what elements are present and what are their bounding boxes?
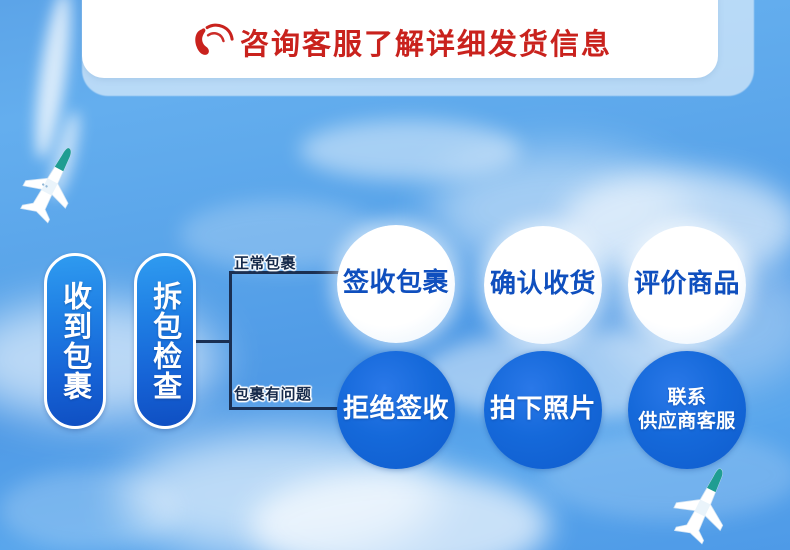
- flow-node-label: 评价商品: [634, 271, 740, 298]
- flow-node-label-line2: 供应商客服: [638, 410, 736, 432]
- flow-node-label: 收到包裹: [59, 281, 90, 401]
- flow-node-label: 拆包检查: [149, 281, 180, 401]
- branch-label-normal: 正常包裹: [234, 252, 296, 273]
- cloud-shape: [0, 470, 180, 550]
- flow-node-received-package[interactable]: 收到包裹: [44, 253, 106, 429]
- flow-node-review-product[interactable]: 评价商品: [628, 226, 746, 344]
- connector-line-stub: [196, 340, 232, 343]
- flow-node-label-line1: 联系: [667, 386, 706, 408]
- flow-node-confirm-receipt[interactable]: 确认收货: [484, 226, 602, 344]
- contrail-shape: [44, 109, 85, 201]
- header-panel: 咨询客服了解详细发货信息: [82, 0, 718, 78]
- flow-node-label: 签收包裹: [343, 270, 449, 297]
- cloud-shape: [300, 120, 520, 180]
- airplane-icon: [0, 121, 115, 251]
- flow-node-refuse-signature[interactable]: 拒绝签收: [337, 351, 455, 469]
- connector-line-vertical: [229, 271, 232, 410]
- flow-node-label: 拍下照片: [490, 396, 596, 423]
- flow-node-take-photo[interactable]: 拍下照片: [484, 351, 602, 469]
- cloud-shape: [250, 470, 550, 550]
- flow-node-label: 联系 供应商客服: [638, 386, 736, 434]
- flow-node-contact-supplier-service[interactable]: 联系 供应商客服: [628, 351, 746, 469]
- header-title: 咨询客服了解详细发货信息: [240, 30, 612, 59]
- contrail-shape: [28, 0, 77, 161]
- infographic-canvas: 咨询客服了解详细发货信息 收到包裹 拆包检查 正常包裹 包裹有问题 签收包裹 确…: [0, 0, 790, 550]
- flow-node-sign-for-package[interactable]: 签收包裹: [337, 225, 455, 343]
- flow-node-label: 确认收货: [490, 271, 596, 298]
- phone-handset-icon: [188, 18, 234, 64]
- flow-node-label: 拒绝签收: [343, 396, 449, 423]
- connector-line-bottom-branch: [229, 407, 347, 410]
- flow-node-unpack-inspect[interactable]: 拆包检查: [134, 253, 196, 429]
- branch-label-problem: 包裹有问题: [234, 383, 312, 404]
